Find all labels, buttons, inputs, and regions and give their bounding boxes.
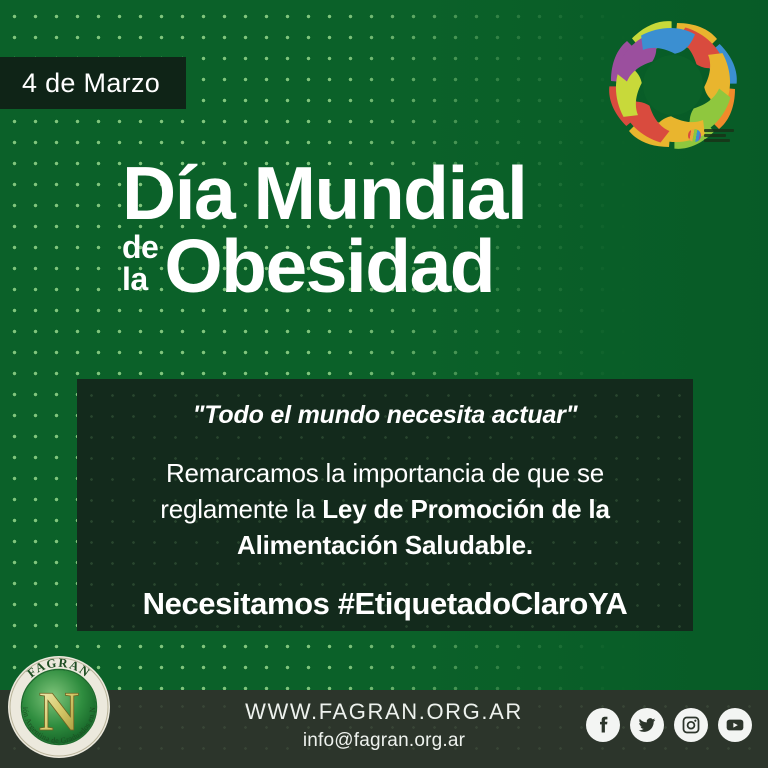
title-line-1: Día Mundial xyxy=(122,158,682,229)
twitter-icon[interactable] xyxy=(630,708,664,742)
instagram-icon[interactable] xyxy=(674,708,708,742)
page-title: Día Mundial de la Obesidad xyxy=(122,158,682,302)
fagran-seal-logo: FAGRAN Federación Argentina de Graduados… xyxy=(6,654,112,760)
message-panel: "Todo el mundo necesita actuar" Remarcam… xyxy=(77,379,693,631)
message-quote: "Todo el mundo necesita actuar" xyxy=(103,401,667,430)
message-body: Remarcamos la importancia de que se regl… xyxy=(103,456,667,564)
message-cta-hashtag: Necesitamos #EtiquetadoClaroYA xyxy=(103,586,667,622)
world-obesity-day-wordmark xyxy=(688,122,750,148)
date-badge: 4 de Marzo xyxy=(0,57,186,109)
title-word-obesidad: Obesidad xyxy=(164,231,494,302)
footer-bar: WWW.FAGRAN.ORG.AR info@fagran.org.ar xyxy=(0,690,768,768)
youtube-icon[interactable] xyxy=(718,708,752,742)
title-word-de: de xyxy=(122,231,158,264)
poster-canvas: 4 de Marzo xyxy=(0,0,768,768)
wordmark-text-lines xyxy=(704,129,734,142)
title-line-2: de la Obesidad xyxy=(122,231,682,302)
svg-text:N: N xyxy=(39,681,79,743)
social-links xyxy=(586,708,752,742)
date-badge-label: 4 de Marzo xyxy=(22,68,160,99)
title-word-la: la xyxy=(122,263,158,296)
title-small-words: de la xyxy=(122,231,158,302)
facebook-icon[interactable] xyxy=(586,708,620,742)
wordmark-dot-icon xyxy=(688,129,701,142)
